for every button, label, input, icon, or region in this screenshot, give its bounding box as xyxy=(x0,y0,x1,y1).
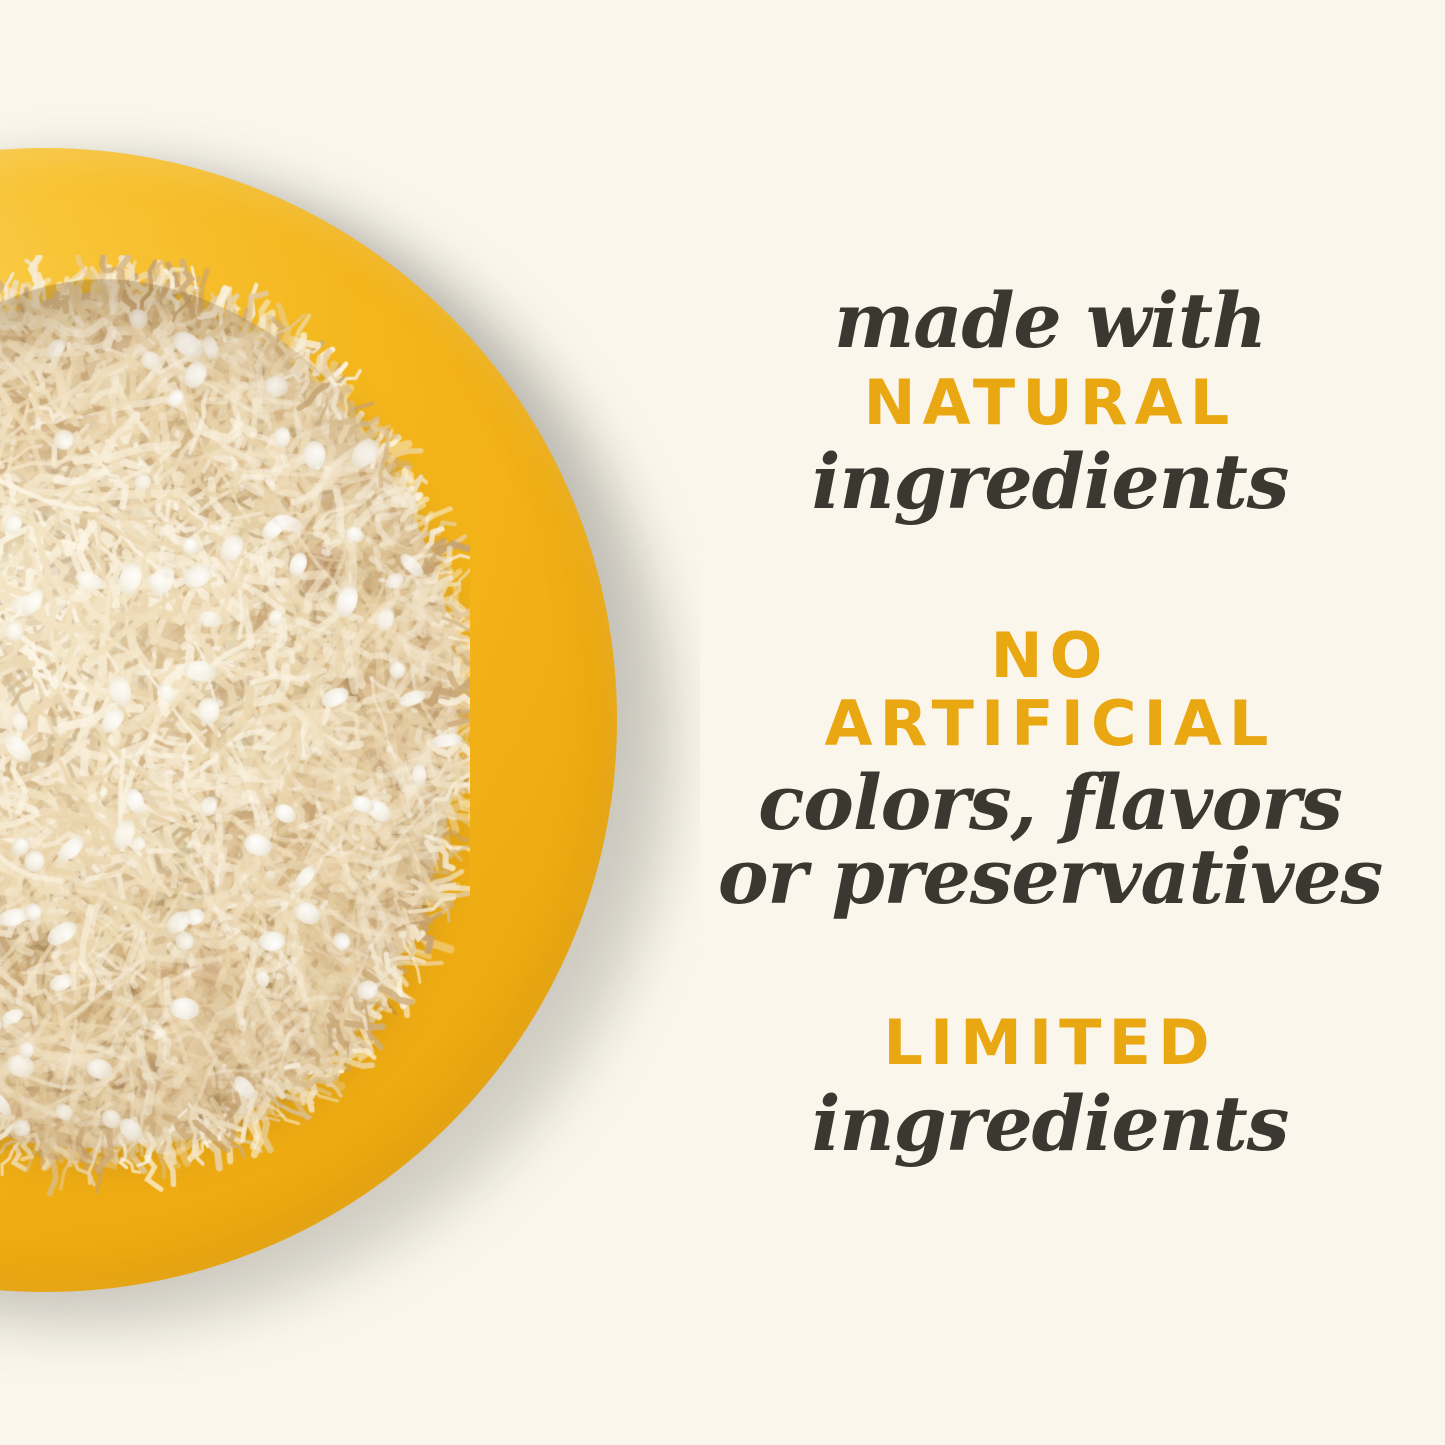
food-photograph xyxy=(0,0,700,1445)
claim-limited-ingredients: LIMITED ingredients xyxy=(655,1011,1445,1162)
claim-line: ARTIFICIAL xyxy=(655,692,1445,755)
food-texture-canvas xyxy=(0,255,470,1215)
claim-line: made with xyxy=(655,283,1445,359)
claim-line: ingredients xyxy=(655,444,1445,520)
claim-natural-ingredients: made with NATURAL ingredients xyxy=(655,283,1445,520)
claims-text-column: made with NATURAL ingredients NO ARTIFIC… xyxy=(655,0,1445,1445)
product-claims-graphic: made with NATURAL ingredients NO ARTIFIC… xyxy=(0,0,1445,1445)
claim-line: LIMITED xyxy=(655,1011,1445,1074)
claim-no-artificial: NO ARTIFICIAL colors, flavors or preserv… xyxy=(655,624,1445,914)
claim-line: ingredients xyxy=(655,1086,1445,1162)
claim-line: NATURAL xyxy=(655,371,1445,434)
claim-line: or preservatives xyxy=(655,839,1445,915)
shredded-chicken-and-rice xyxy=(0,255,470,1215)
claim-line: NO xyxy=(655,624,1445,687)
claim-line: colors, flavors xyxy=(655,765,1445,841)
